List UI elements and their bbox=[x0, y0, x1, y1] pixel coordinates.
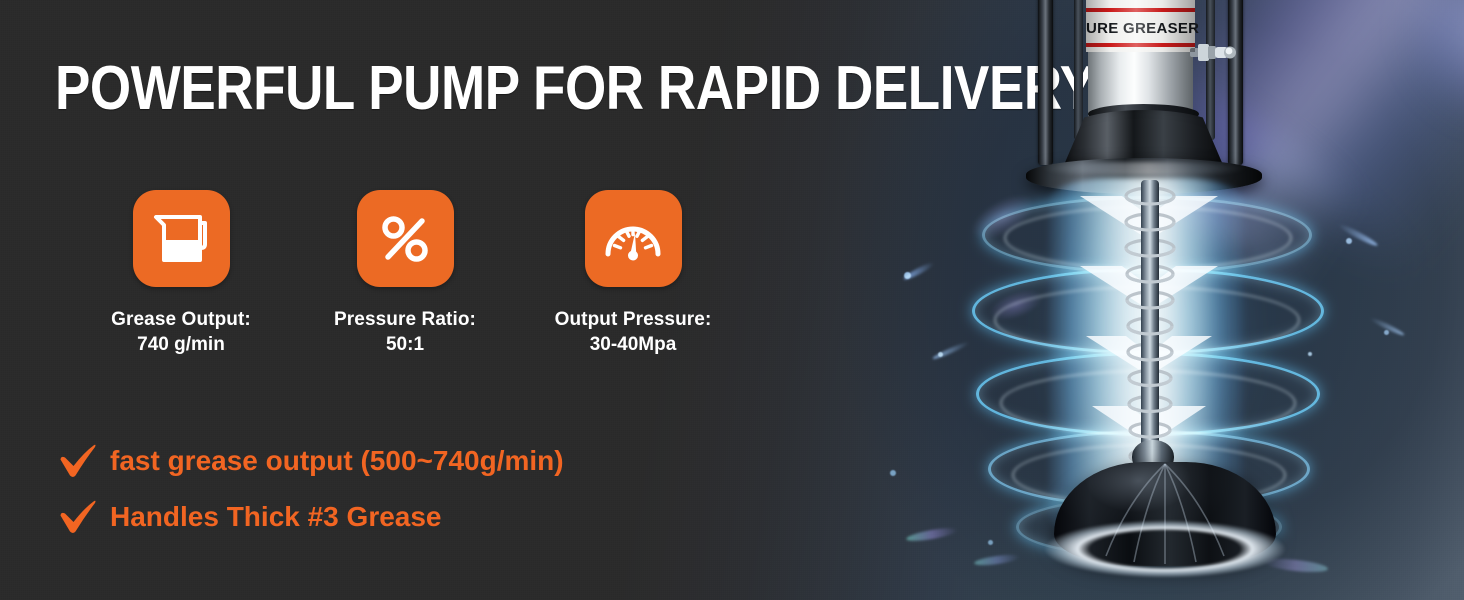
spec-icon-tile bbox=[357, 190, 454, 287]
product-feature-banner: POWERFUL PUMP FOR RAPID DELIVERY Grease … bbox=[0, 0, 1464, 600]
spec-value: 740 g/min bbox=[137, 332, 225, 357]
feature-bullet-text: fast grease output (500~740g/min) bbox=[110, 447, 564, 475]
measuring-jug-icon bbox=[152, 212, 210, 266]
spec-item-pressure-ratio: Pressure Ratio: 50:1 bbox=[292, 190, 518, 357]
spec-value: 50:1 bbox=[386, 332, 424, 357]
spec-label: Pressure Ratio: bbox=[334, 307, 476, 332]
feature-bullet-text: Handles Thick #3 Grease bbox=[110, 503, 442, 531]
spec-value: 30-40Mpa bbox=[590, 332, 677, 357]
feature-bullet-item: fast grease output (500~740g/min) bbox=[58, 440, 564, 482]
check-icon bbox=[58, 444, 98, 478]
spec-icon-tile bbox=[585, 190, 682, 287]
spec-item-output-pressure: Output Pressure: 30-40Mpa bbox=[518, 190, 748, 357]
percent-icon bbox=[378, 212, 432, 266]
gauge-icon bbox=[603, 212, 663, 266]
spec-icon-tile bbox=[133, 190, 230, 287]
feature-bullet-item: Handles Thick #3 Grease bbox=[58, 496, 564, 538]
spec-list: Grease Output: 740 g/min Pressure Ratio:… bbox=[70, 190, 748, 357]
spec-item-grease-output: Grease Output: 740 g/min bbox=[70, 190, 292, 357]
page-title: POWERFUL PUMP FOR RAPID DELIVERY bbox=[55, 58, 1095, 120]
spec-label: Output Pressure: bbox=[555, 307, 712, 332]
feature-bullet-list: fast grease output (500~740g/min) Handle… bbox=[58, 440, 564, 552]
check-icon bbox=[58, 500, 98, 534]
spec-label: Grease Output: bbox=[111, 307, 251, 332]
